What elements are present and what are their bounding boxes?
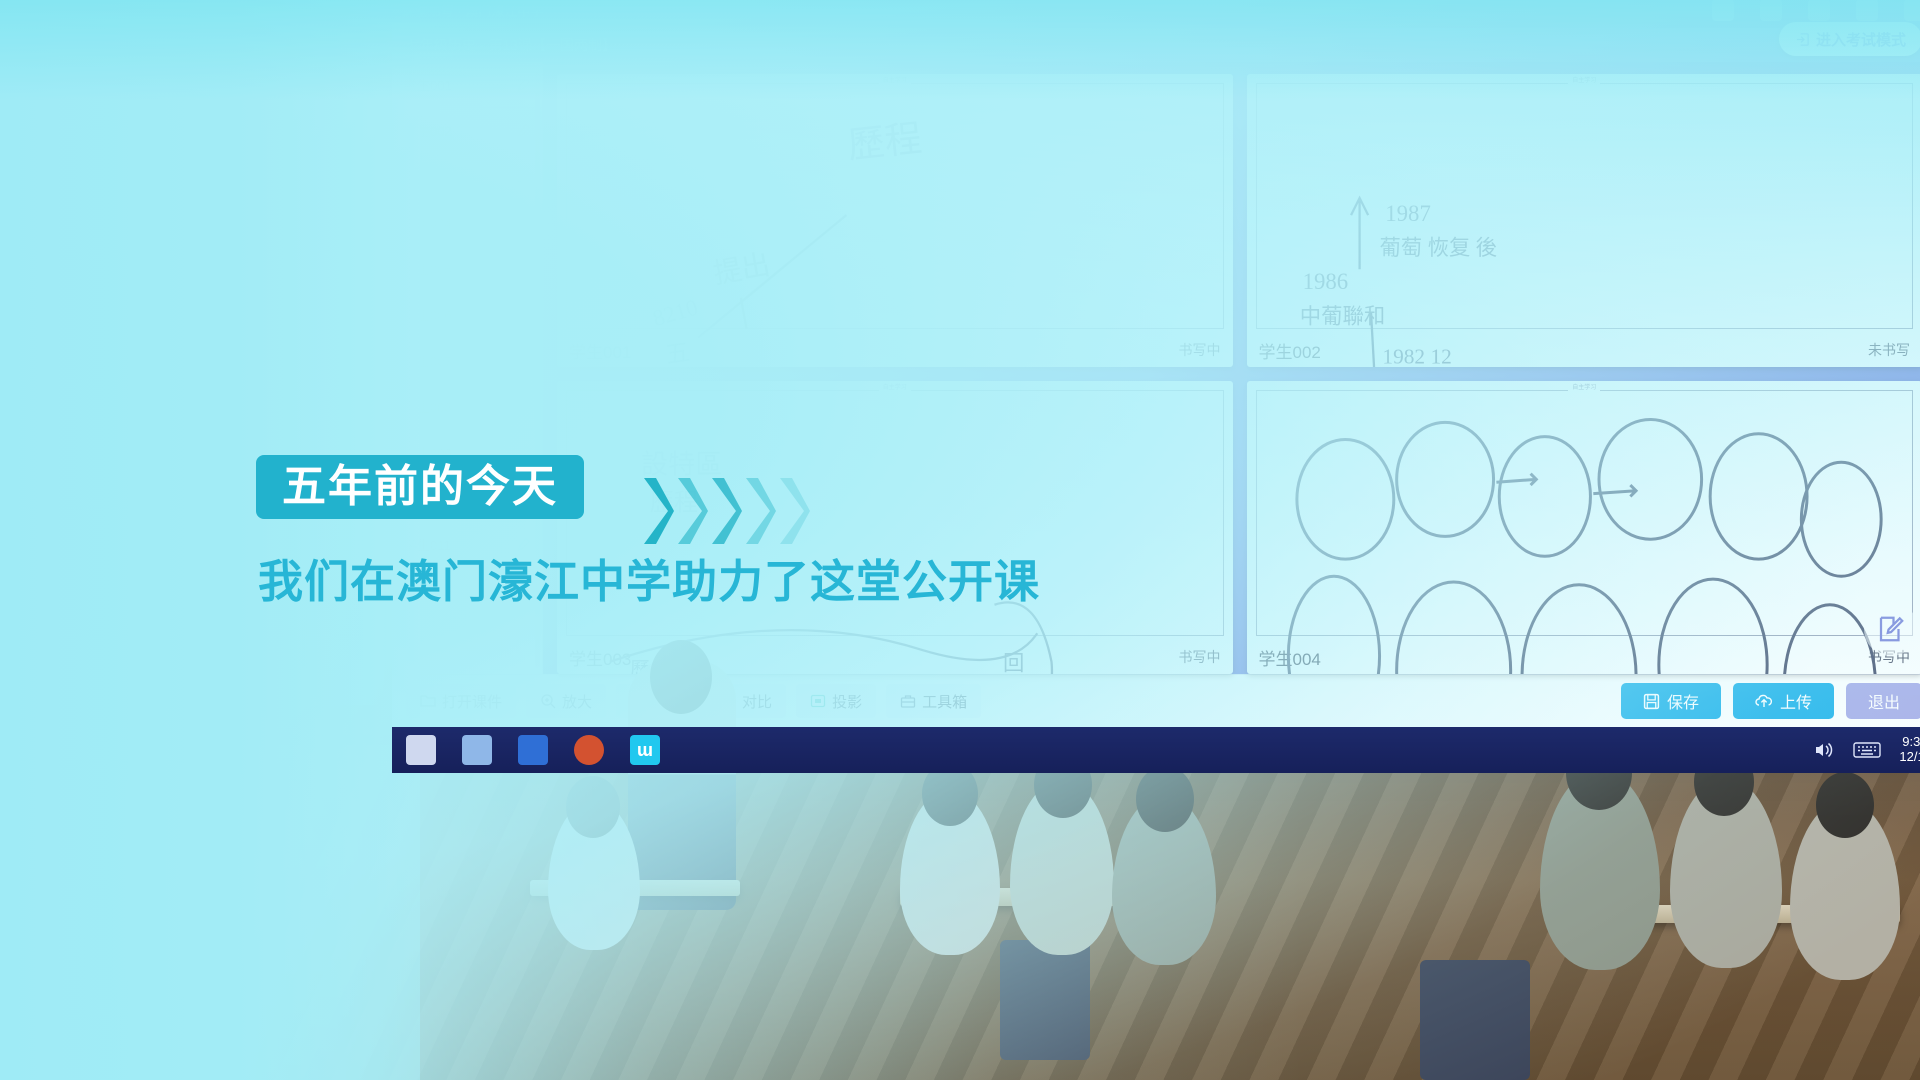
ink-strokes: 1987 葡萄 恢复 後 1986 中葡聯和 1982 12 互重 行政區 bbox=[1257, 84, 1913, 367]
headline-badge: 五年前的今天 bbox=[256, 455, 584, 519]
handwriting-canvas[interactable]: 自主学习 bbox=[1256, 390, 1914, 636]
toolbar-projection-button[interactable]: 投影 bbox=[796, 684, 876, 718]
volume-icon[interactable] bbox=[1813, 740, 1835, 760]
w-app-icon[interactable]: ɯ bbox=[630, 735, 660, 765]
os-taskbar[interactable]: ɯ 9:33 AM 12/18/20 bbox=[392, 727, 1920, 773]
sidebar-item-label: 学生003 bbox=[404, 167, 452, 186]
toolbox-icon bbox=[900, 693, 916, 709]
toolbar-label: 对比 bbox=[742, 691, 772, 712]
app-toolbar: 打开课件 放大 缩小 对比 bbox=[392, 674, 1920, 727]
toolbar-zoom-in-button[interactable]: 放大 bbox=[526, 684, 606, 718]
svg-text:8210: 8210 bbox=[650, 294, 701, 331]
student-work-card[interactable]: 自主学习 1987 葡萄 恢复 後 1986 中葡聯和 bbox=[1247, 74, 1920, 367]
pencil-icon[interactable] bbox=[517, 124, 530, 137]
chevron-right-icon bbox=[640, 474, 674, 548]
sidebar-item-student-005[interactable]: 学生005 bbox=[392, 246, 542, 292]
sidebar-item-label: 学生002 bbox=[404, 121, 452, 140]
toolbar-open-courseware-button[interactable]: 打开课件 bbox=[406, 684, 516, 718]
app-subheader: 七年级历史 · 第13课【一国两制】 bbox=[392, 28, 1920, 62]
canvas-tag: 自主学习 bbox=[879, 382, 911, 391]
student-work-card[interactable]: 自主学习 bbox=[1247, 381, 1920, 674]
taskbar-clock[interactable]: 9:33 AM 12/18/20 bbox=[1899, 735, 1920, 765]
chevron-right-icon bbox=[674, 474, 708, 548]
sidebar-item-student-003[interactable]: 学生003 bbox=[392, 154, 542, 200]
pencil-icon[interactable] bbox=[517, 170, 530, 183]
toolbar-label: 放大 bbox=[562, 691, 592, 712]
sidebar-item-student-002[interactable]: 学生002 bbox=[392, 108, 542, 154]
sidebar-item-label: 学生008 bbox=[404, 397, 452, 416]
svg-text:歷程: 歷程 bbox=[846, 119, 924, 168]
svg-text:回: 回 bbox=[1003, 651, 1024, 674]
clock-date: 12/18/20 bbox=[1899, 750, 1920, 765]
person-head bbox=[1816, 772, 1874, 838]
chair bbox=[1420, 960, 1530, 1080]
sidebar-item-student-007[interactable]: 学生007 bbox=[392, 338, 542, 384]
chevron-decoration bbox=[640, 474, 810, 548]
sidebar-item-student-001[interactable]: 学生001 bbox=[392, 62, 542, 108]
save-button[interactable]: 保存 bbox=[1621, 683, 1721, 719]
window-icon[interactable] bbox=[1808, 0, 1830, 21]
sidebar-item-student-004[interactable]: 学生004 bbox=[392, 200, 542, 246]
sidebar-item-label: 学生006 bbox=[404, 305, 452, 324]
toolbar-label: 工具箱 bbox=[922, 691, 967, 712]
app-titlebar: 课堂书写 · 澳门濠江中学 bbox=[392, 0, 1920, 28]
projector-icon bbox=[810, 693, 826, 709]
pencil-icon[interactable] bbox=[517, 354, 530, 367]
folder-icon[interactable] bbox=[462, 735, 492, 765]
person-head bbox=[566, 776, 620, 838]
sidebar-item-student-008[interactable]: 学生008 bbox=[392, 384, 542, 430]
student-work-card[interactable]: 自主学习 歷程 提出 8210 五 亞 bbox=[557, 74, 1233, 367]
chevron-right-icon bbox=[708, 474, 742, 548]
chevron-right-icon bbox=[776, 474, 810, 548]
canvas-tag: 自主学习 bbox=[879, 75, 911, 84]
canvas-tag: 自主学习 bbox=[1568, 382, 1600, 391]
system-tray[interactable]: 9:33 AM 12/18/20 bbox=[1813, 735, 1920, 765]
screenshot-root: 课堂书写 · 澳门濠江中学 七年级历史 · 第13课【一国两制】 bbox=[0, 0, 1920, 1080]
edit-note-icon bbox=[1876, 614, 1906, 644]
pencil-icon[interactable] bbox=[517, 400, 530, 413]
upload-icon bbox=[1755, 692, 1773, 710]
person-head bbox=[650, 640, 712, 714]
powerpoint-icon[interactable] bbox=[574, 735, 604, 765]
app-title: 课堂书写 · 澳门濠江中学 bbox=[402, 1, 544, 20]
svg-text:葡萄 恢复 後: 葡萄 恢复 後 bbox=[1379, 236, 1496, 260]
file-explorer-icon[interactable] bbox=[406, 735, 436, 765]
zoom-in-icon bbox=[540, 693, 556, 709]
clock-time: 9:33 AM bbox=[1899, 735, 1920, 750]
pencil-icon[interactable] bbox=[517, 216, 530, 229]
pencil-icon[interactable] bbox=[517, 308, 530, 321]
interactive-whiteboard: 课堂书写 · 澳门濠江中学 七年级历史 · 第13课【一国两制】 bbox=[392, 0, 1920, 727]
toolbar-label: 打开课件 bbox=[442, 691, 502, 712]
sidebar-item-label: 学生004 bbox=[404, 213, 452, 232]
upload-button[interactable]: 上传 bbox=[1733, 683, 1834, 719]
person-head bbox=[1136, 766, 1194, 832]
window-icon[interactable] bbox=[1712, 0, 1734, 21]
window-controls[interactable] bbox=[1712, 0, 1920, 21]
enter-exam-mode-label: 进入考试模式 bbox=[1816, 29, 1906, 50]
classroom-photo: 课堂书写 · 澳门濠江中学 七年级历史 · 第13课【一国两制】 bbox=[0, 0, 1920, 1080]
svg-text:1987: 1987 bbox=[1385, 201, 1431, 226]
svg-text:1986: 1986 bbox=[1302, 269, 1348, 294]
save-label: 保存 bbox=[1667, 689, 1699, 713]
canvas-tag: 自主学习 bbox=[1568, 75, 1600, 84]
window-icon[interactable] bbox=[1856, 0, 1878, 21]
window-icon[interactable] bbox=[1904, 0, 1920, 21]
upload-label: 上传 bbox=[1780, 689, 1812, 713]
save-icon bbox=[1643, 693, 1660, 710]
folder-open-icon bbox=[420, 693, 436, 709]
sidebar-item-student-006[interactable]: 学生006 bbox=[392, 292, 542, 338]
sidebar-item-label: 学生001 bbox=[404, 75, 452, 94]
classroom-app: 课堂书写 · 澳门濠江中学 七年级历史 · 第13课【一国两制】 bbox=[392, 0, 1920, 727]
ink-strokes: 歷程 提出 8210 五 亞 特 區 bbox=[567, 84, 1223, 367]
window-icon[interactable] bbox=[1760, 0, 1782, 21]
headline-subtitle: 我们在澳门濠江中学助力了这堂公开课 bbox=[258, 545, 1040, 610]
enter-icon bbox=[1795, 32, 1810, 47]
chevron-right-icon bbox=[742, 474, 776, 548]
svg-text:中葡聯和: 中葡聯和 bbox=[1299, 304, 1384, 328]
pencil-icon[interactable] bbox=[517, 262, 530, 275]
enter-exam-mode-button[interactable]: 进入考试模式 bbox=[1779, 22, 1920, 56]
edit-note-fab[interactable] bbox=[1864, 602, 1918, 656]
toolbar-label: 投影 bbox=[832, 691, 862, 712]
sidebar-item-label: 学生007 bbox=[404, 351, 452, 370]
exit-label: 退出 bbox=[1868, 689, 1900, 713]
chair bbox=[1000, 940, 1090, 1060]
headline-badge-label: 五年前的今天 bbox=[282, 465, 558, 509]
sidebar-item-label: 学生005 bbox=[404, 259, 452, 278]
svg-text:五: 五 bbox=[664, 339, 692, 367]
svg-text:1982 12: 1982 12 bbox=[1382, 344, 1451, 367]
keyboard-icon[interactable] bbox=[1853, 741, 1881, 759]
handwriting-canvas[interactable]: 自主学习 歷程 提出 8210 五 亞 bbox=[566, 83, 1224, 329]
blue-app-icon[interactable] bbox=[518, 735, 548, 765]
lesson-title: 七年级历史 · 第13课【一国两制】 bbox=[406, 35, 616, 55]
handwriting-canvas[interactable]: 自主学习 1987 葡萄 恢复 後 1986 中葡聯和 bbox=[1256, 83, 1914, 329]
exit-button[interactable]: 退出 bbox=[1846, 683, 1920, 719]
pencil-icon[interactable] bbox=[517, 78, 530, 91]
ink-strokes bbox=[1257, 391, 1913, 674]
toolbar-toolbox-button[interactable]: 工具箱 bbox=[886, 684, 981, 718]
